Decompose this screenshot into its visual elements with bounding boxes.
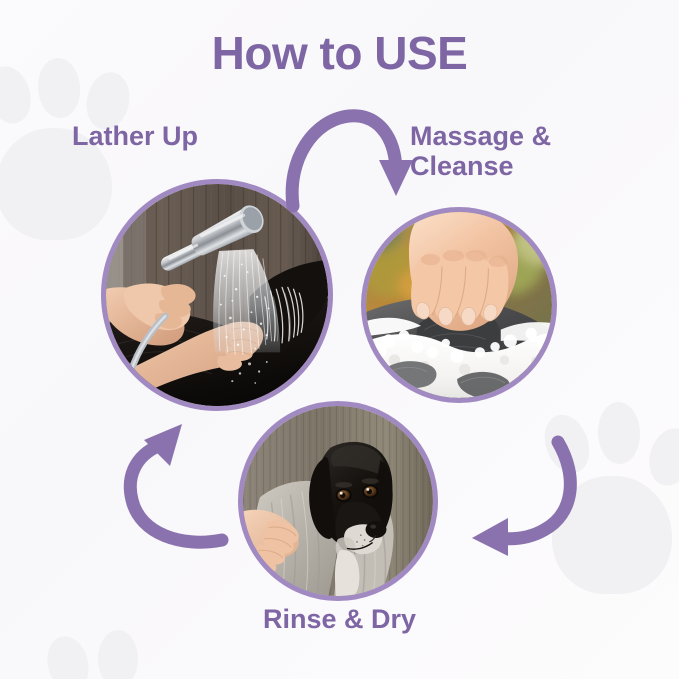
step-label-massage-cleanse-line1: Massage & — [410, 121, 551, 151]
step-label-massage-cleanse: Massage & Cleanse — [410, 121, 551, 181]
page-title: How to USE — [0, 26, 679, 80]
step-photo-massage-cleanse — [361, 207, 557, 403]
arrow-step3-to-step1-icon — [110, 418, 235, 543]
step-photo-massage-cleanse-alt: Hand massaging white shampoo lather into… — [0, 0, 1, 1]
paw-print-left-icon — [0, 62, 132, 247]
paw-print-bottom-left-icon — [40, 636, 180, 679]
step-photo-massage-cleanse-image — [366, 212, 552, 398]
step-photo-rinse-dry-image — [243, 406, 433, 596]
step-photo-lather-up — [101, 179, 333, 411]
how-to-use-infographic: How to USE Lather Up Massage & Cleanse R… — [0, 0, 679, 679]
step-label-rinse-dry: Rinse & Dry — [0, 604, 679, 634]
step-label-massage-cleanse-line2: Cleanse — [410, 151, 551, 181]
arrow-step2-to-step3-icon — [452, 442, 582, 562]
arrow-step1-to-step2-icon — [283, 98, 413, 210]
step-photo-rinse-dry-alt: Black and white dog wrapped in a grey to… — [0, 0, 1, 1]
step-photo-lather-up-alt: Hand holding a chrome shower head sprayi… — [0, 0, 1, 1]
step-photo-lather-up-image — [106, 184, 328, 406]
step-photo-rinse-dry — [238, 401, 438, 601]
paw-print-right-icon — [546, 406, 679, 601]
step-label-lather-up: Lather Up — [72, 121, 198, 151]
